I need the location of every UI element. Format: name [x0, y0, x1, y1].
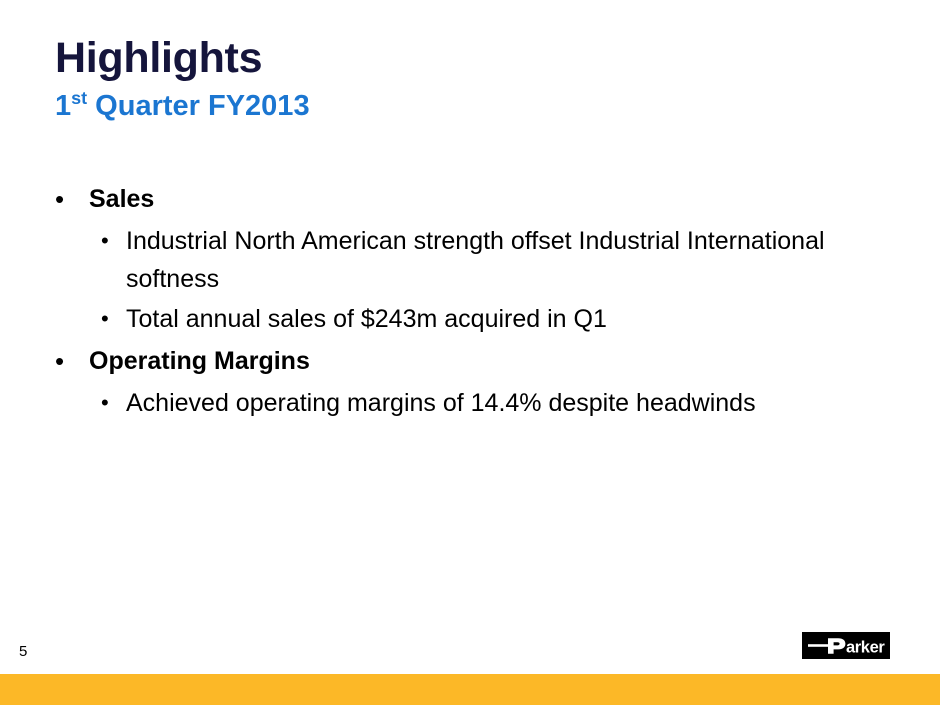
slide-canvas: Highlights 1st Quarter FY2013 • Sales • … [0, 0, 940, 705]
page-title: Highlights [55, 36, 755, 82]
list-item: • Industrial North American strength off… [101, 222, 885, 298]
parker-logo-icon: arker [802, 632, 890, 659]
bullet-marker-icon: • [55, 178, 89, 220]
subtitle-ordinal-suffix: st [71, 87, 87, 107]
bullet-marker-icon: • [101, 384, 126, 422]
svg-text:arker: arker [846, 638, 885, 656]
title-block: Highlights 1st Quarter FY2013 [55, 36, 755, 122]
list-item: • Total annual sales of $243m acquired i… [101, 300, 885, 338]
list-item-label: Total annual sales of $243m acquired in … [126, 300, 607, 338]
footer-accent-bar [0, 674, 940, 705]
list-item-label: Industrial North American strength offse… [126, 222, 831, 298]
bullet-marker-icon: • [101, 300, 126, 338]
page-number: 5 [19, 644, 27, 659]
subtitle-text: Quarter FY2013 [87, 90, 309, 122]
list-item-label: Operating Margins [89, 340, 310, 382]
list-item: • Operating Margins [55, 340, 885, 382]
list-item: • Achieved operating margins of 14.4% de… [101, 384, 885, 422]
list-item-label: Sales [89, 178, 154, 220]
bullet-marker-icon: • [101, 222, 126, 260]
list-item-label: Achieved operating margins of 14.4% desp… [126, 384, 756, 422]
page-subtitle: 1st Quarter FY2013 [55, 90, 755, 122]
bullet-marker-icon: • [55, 340, 89, 382]
list-item: • Sales [55, 178, 885, 220]
subtitle-number: 1 [55, 90, 71, 122]
bullet-list: • Sales • Industrial North American stre… [55, 178, 885, 424]
